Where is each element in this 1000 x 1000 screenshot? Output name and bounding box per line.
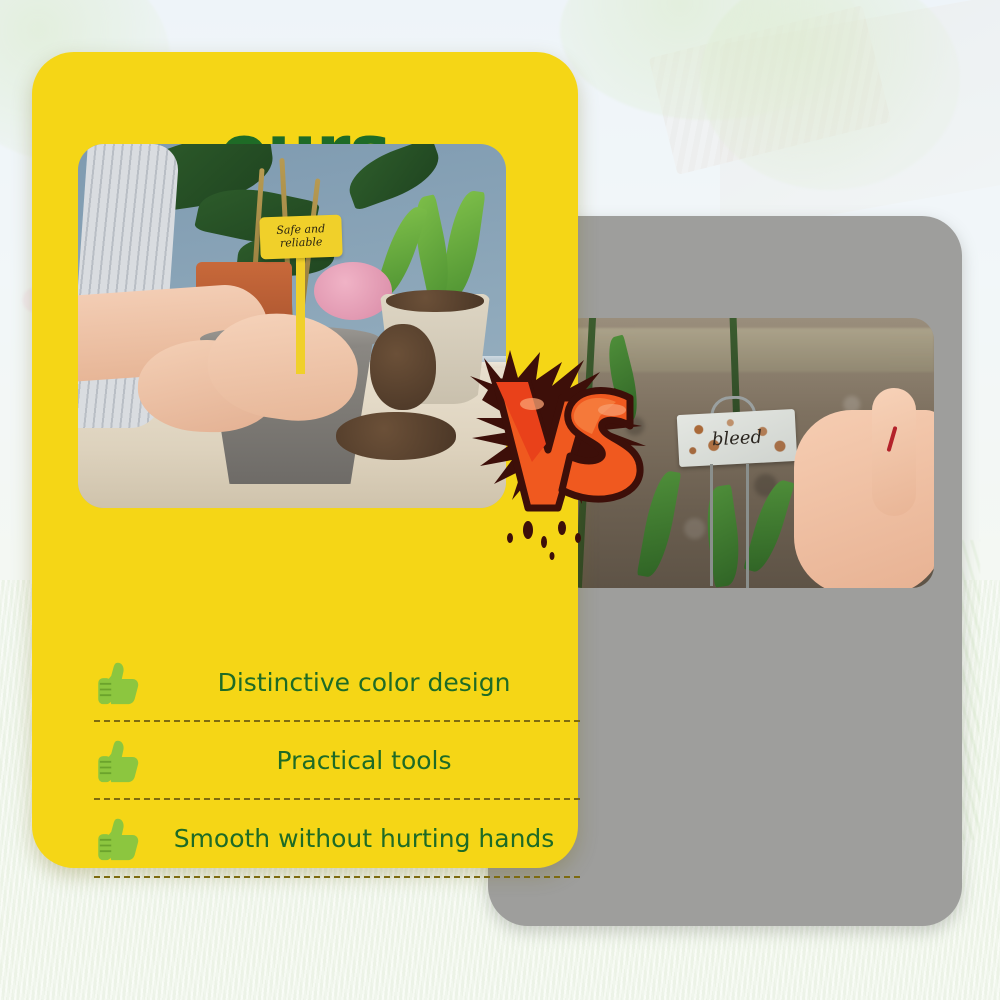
thumbs-up-icon <box>94 734 148 788</box>
ours-feature-row-2: Practical tools <box>94 722 580 800</box>
ours-feature-row-1: Distinctive color design <box>94 644 580 722</box>
ours-feature-label: Practical tools <box>148 747 580 775</box>
yellow-plant-label: Safe and reliable <box>259 215 342 260</box>
splatter-drips <box>507 521 581 560</box>
ours-feature-list: Distinctive color design Practical tools <box>94 644 580 878</box>
row-divider <box>94 876 580 878</box>
label-wire-2 <box>746 464 749 588</box>
rusty-plant-label: bleed <box>677 409 798 467</box>
thumbs-up-icon <box>94 812 148 866</box>
ours-feature-label: Smooth without hurting hands <box>148 825 580 853</box>
plant-label-stick <box>296 256 305 374</box>
label-wire-1 <box>710 464 713 586</box>
ours-feature-row-3: Smooth without hurting hands <box>94 800 580 878</box>
spilled-soil-2 <box>370 324 436 410</box>
rusty-label-text: bleed <box>711 426 762 450</box>
comparison-infographic: Others bleed <box>0 0 1000 1000</box>
pink-flowers <box>314 262 392 320</box>
versus-badge <box>466 332 658 562</box>
soil-in-beige-pot <box>386 290 484 312</box>
index-finger <box>872 388 916 516</box>
thumbs-up-icon <box>94 656 148 710</box>
ours-feature-label: Distinctive color design <box>148 669 580 697</box>
spilled-soil-1 <box>336 412 456 460</box>
ours-photo: Safe and reliable <box>78 144 506 508</box>
plant-label-text: Safe and reliable <box>262 223 341 251</box>
